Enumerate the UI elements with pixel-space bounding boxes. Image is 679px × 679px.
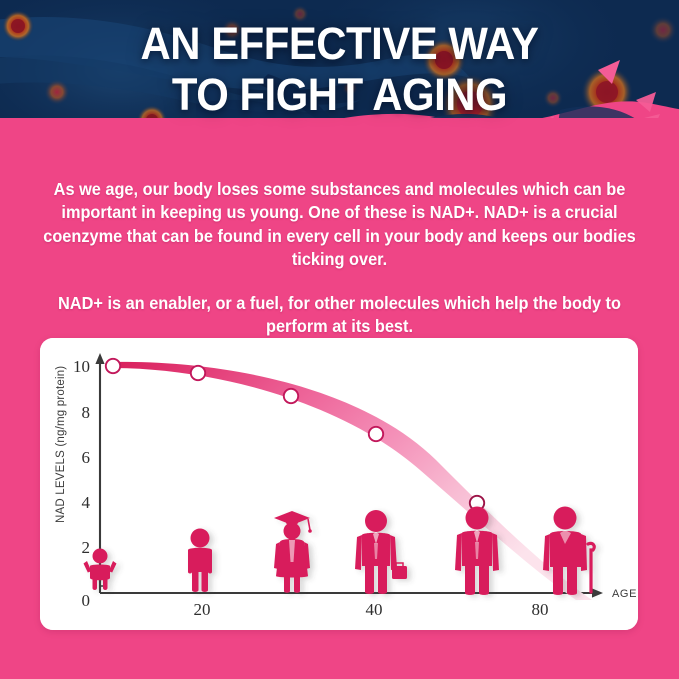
y-tick-8: 8 [82,403,91,422]
data-point-2[interactable] [191,366,205,380]
data-point-3[interactable] [284,389,298,403]
x-tick-40: 40 [366,600,383,619]
headline-line-1: AN EFFECTIVE WAY [141,18,539,69]
body-paragraph-1: As we age, our body loses some substance… [40,178,639,272]
x-tick-20: 20 [194,600,211,619]
data-point-4[interactable] [369,427,383,441]
briefcase-icon [392,566,407,579]
body-paragraph-2: NAD+ is an enabler, or a fuel, for other… [40,292,639,339]
body-copy: As we age, our body loses some substance… [40,178,639,338]
y-tick-2: 2 [82,538,91,557]
x-tick-80: 80 [532,600,549,619]
y-tick-0: 0 [82,591,91,610]
y-tick-4: 4 [82,493,91,512]
nad-levels-chart-card: 10 8 6 4 2 0 NAD LEVELS (ng/mg protein) … [40,338,638,630]
y-axis-title: NAD LEVELS (ng/mg protein) [55,366,67,523]
data-point-1[interactable] [106,359,120,373]
x-axis-title: AGE [612,588,637,600]
y-tick-6: 6 [82,448,91,467]
headline-line-2: TO FIGHT AGING [24,69,655,120]
y-tick-10: 10 [73,357,90,376]
page-title: AN EFFECTIVE WAY TO FIGHT AGING [24,18,655,120]
